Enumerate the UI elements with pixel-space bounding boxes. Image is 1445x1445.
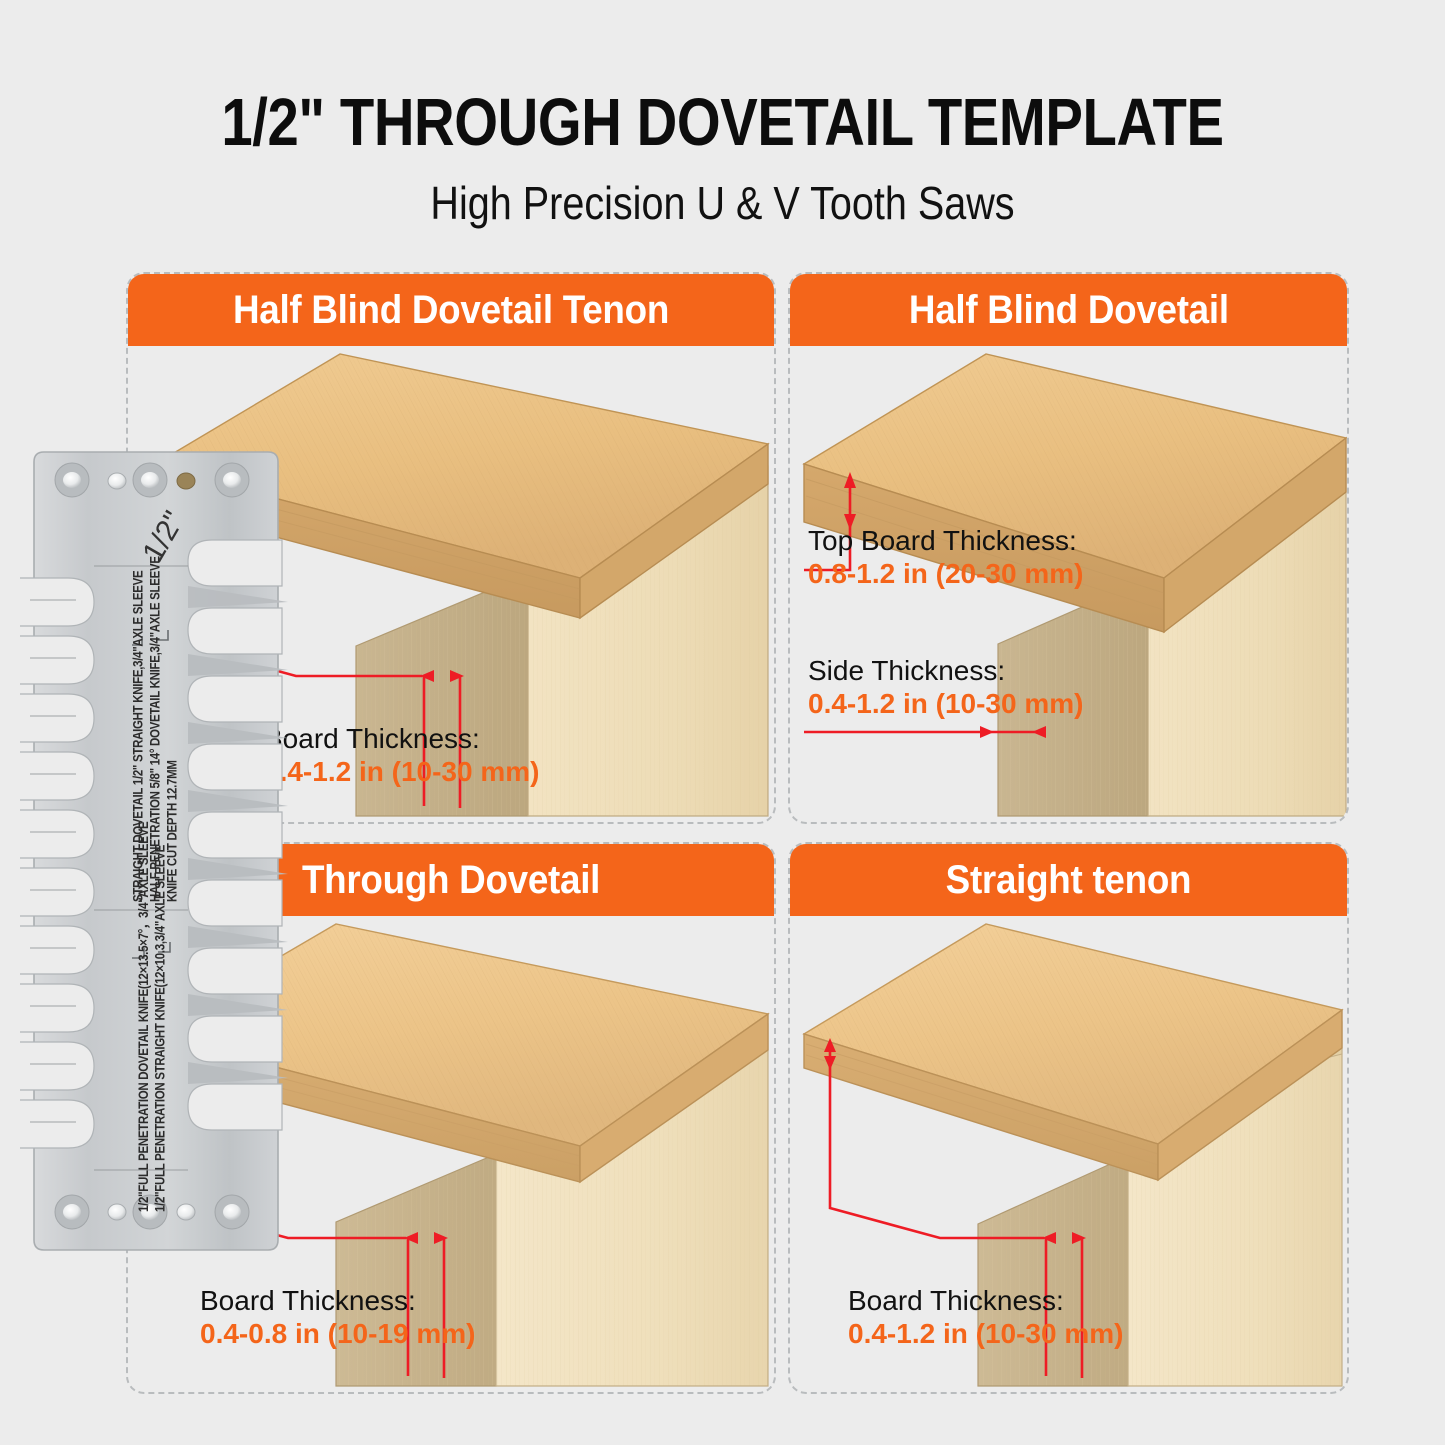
annotation-board-thickness-1: Board Thickness: 0.4-1.2 in (10-30 mm) (264, 722, 539, 788)
annotation-board-thickness-4: Board Thickness: 0.4-1.2 in (10-30 mm) (848, 1284, 1123, 1350)
panel-header-half-blind-dovetail-tenon: Half Blind Dovetail Tenon (128, 274, 774, 346)
annotation-label: Top Board Thickness: (808, 524, 1083, 557)
panel-header-straight-tenon: Straight tenon (790, 844, 1347, 916)
page-header: 1/2" THROUGH DOVETAIL TEMPLATE High Prec… (0, 88, 1445, 230)
panel-header-half-blind-dovetail: Half Blind Dovetail (790, 274, 1347, 346)
annotation-value: 0.4-1.2 in (10-30 mm) (264, 755, 539, 788)
annotation-side-thickness: Side Thickness: 0.4-1.2 in (10-30 mm) (808, 654, 1083, 720)
page-title: 1/2" THROUGH DOVETAIL TEMPLATE (116, 88, 1330, 158)
panel-straight-tenon: Straight tenon (788, 842, 1349, 1394)
annotation-value: 0.4-1.2 in (10-30 mm) (808, 687, 1083, 720)
panel-body: Top Board Thickness: 0.8-1.2 in (20-30 m… (790, 346, 1347, 822)
annotation-value: 0.4-1.2 in (10-30 mm) (848, 1317, 1123, 1350)
annotation-board-thickness-3: Board Thickness: 0.4-0.8 in (10-19 mm) (200, 1284, 475, 1350)
annotation-label: Side Thickness: (808, 654, 1083, 687)
panel-title: Half Blind Dovetail Tenon (233, 288, 669, 333)
panel-title: Through Dovetail (302, 858, 600, 903)
annotation-label: Board Thickness: (264, 722, 539, 755)
annotation-top-board-thickness: Top Board Thickness: 0.8-1.2 in (20-30 m… (808, 524, 1083, 590)
panel-title: Straight tenon (946, 858, 1192, 903)
annotation-value: 0.4-0.8 in (10-19 mm) (200, 1317, 475, 1350)
panel-half-blind-dovetail: Half Blind Dovetail (788, 272, 1349, 824)
template-engraving-3: 1/2"FULL PENETRATION DOVETAIL KNIFE(12×1… (134, 822, 153, 1212)
annotation-value: 0.8-1.2 in (20-30 mm) (808, 557, 1083, 590)
annotation-label: Board Thickness: (848, 1284, 1123, 1317)
template-engraving-4: 1/2"FULL PENETRATION STRAIGHT KNIFE(12×1… (154, 845, 168, 1212)
panel-body: Board Thickness: 0.4-1.2 in (10-30 mm) (790, 916, 1347, 1392)
page-subtitle: High Precision U & V Tooth Saws (101, 176, 1344, 230)
dovetail-template-tool: STRAIGHT DOVETAIL 1/2" STRAIGHT KNIFE,3/… (20, 440, 300, 1290)
panel-title: Half Blind Dovetail (909, 288, 1229, 333)
